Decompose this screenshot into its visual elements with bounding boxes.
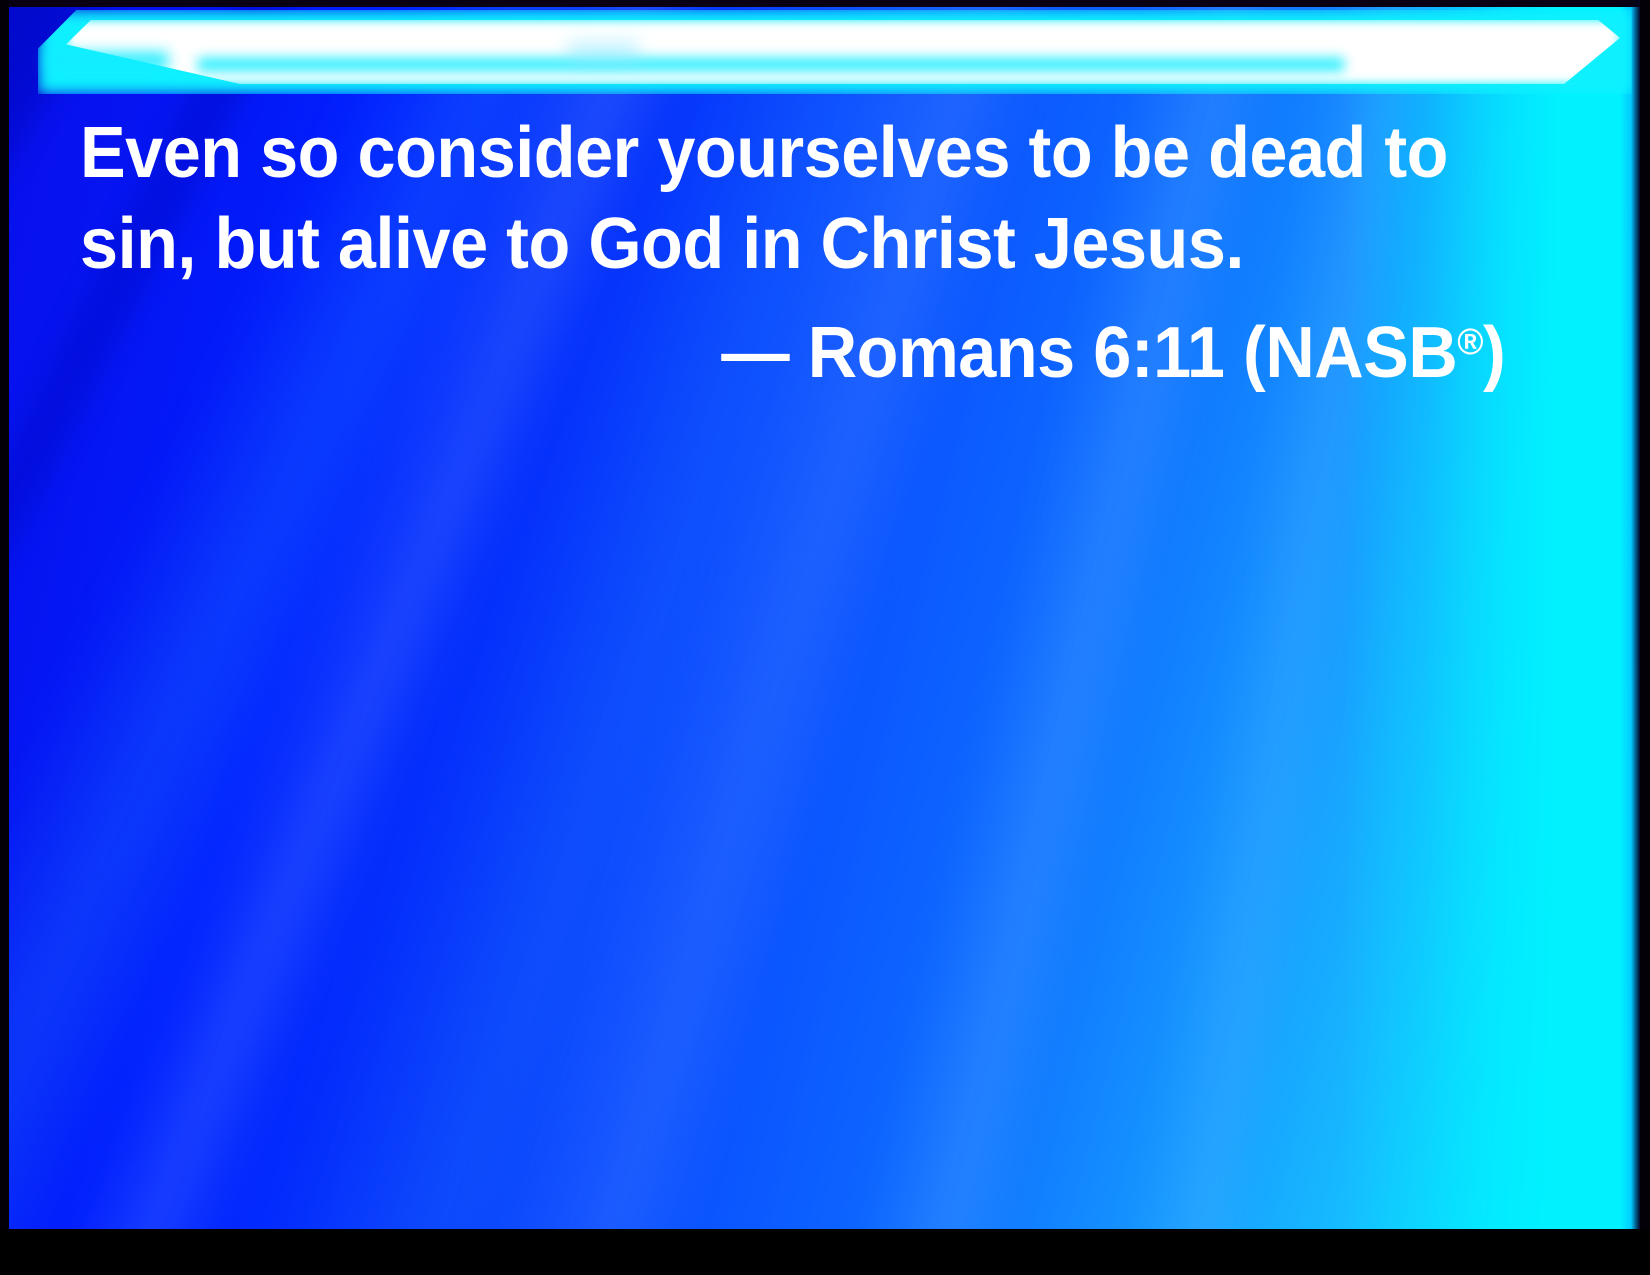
citation-reference: Romans 6:11 (NASB	[807, 313, 1457, 393]
verse-slide: Even so consider yourselves to be dead t…	[0, 0, 1650, 1275]
border-right-glow	[1631, 0, 1640, 1240]
verse-text-block: Even so consider yourselves to be dead t…	[80, 108, 1505, 399]
top-glow-notch	[568, 42, 638, 64]
top-glow-bar	[8, 6, 1644, 102]
verse-citation-inner: — Romans 6:11 (NASB®)	[721, 296, 1505, 399]
verse-citation: — Romans 6:11 (NASB®)	[80, 296, 1505, 399]
top-glow-white-layer	[66, 20, 1620, 84]
verse-line-1: Even so consider yourselves to be dead t…	[80, 108, 1434, 199]
verse-line-2: sin, but alive to God in Christ Jesus.	[80, 199, 1434, 290]
border-right	[1640, 0, 1650, 1275]
border-left	[0, 0, 9, 1275]
border-top	[0, 0, 1650, 7]
citation-closing-paren: )	[1483, 313, 1505, 393]
top-glow-cyan-stripe-left	[48, 52, 168, 70]
border-bottom	[0, 1229, 1650, 1275]
top-glow-cyan-stripe	[198, 58, 1344, 71]
registered-trademark-icon: ®	[1457, 320, 1483, 362]
citation-em-dash: —	[721, 313, 807, 393]
